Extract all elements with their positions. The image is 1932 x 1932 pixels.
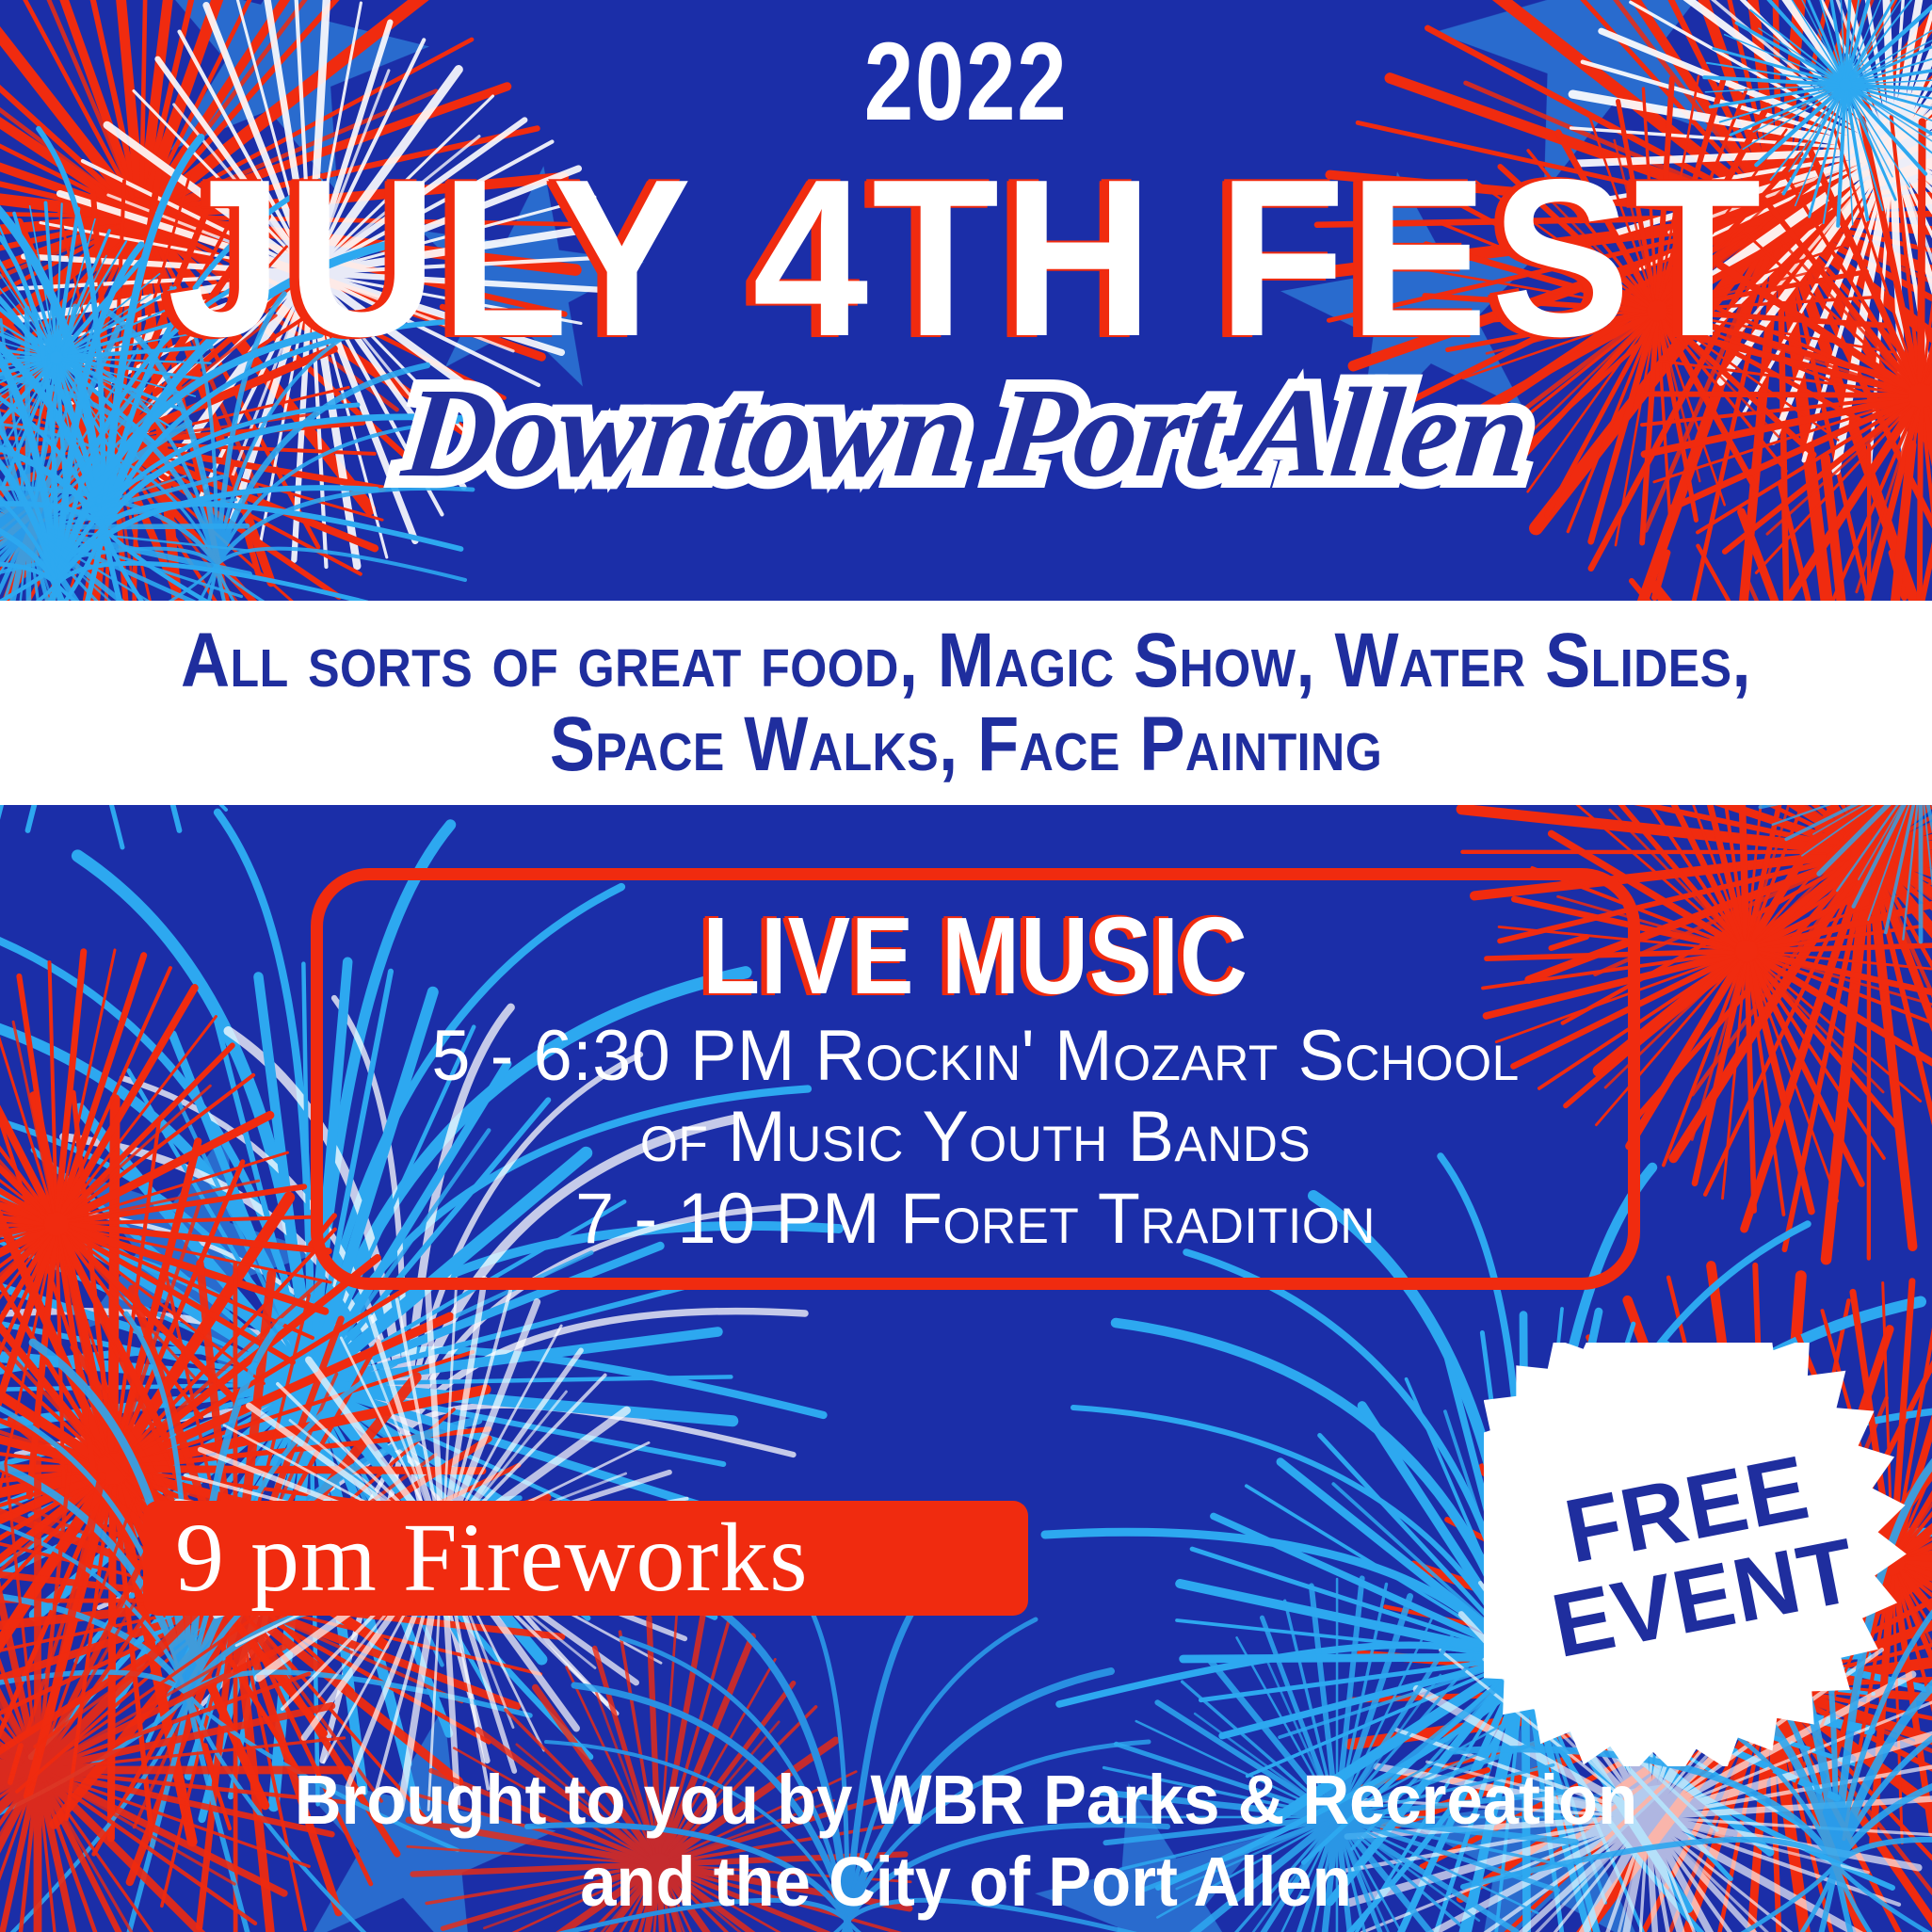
attractions-line-2: Space Walks, Face Painting [550,701,1382,787]
attractions-line-1: All sorts of great food, Magic Show, Wat… [181,618,1751,703]
footer-line-2: and the City of Port Allen [68,1841,1864,1923]
free-event-badge: FREE EVENT [1484,1343,1908,1766]
live-music-heading: LIVE MUSIC [414,880,1537,1014]
live-music-schedule: 5 - 6:30 PM Rockin' Mozart School of Mus… [343,1014,1608,1261]
attractions-banner: All sorts of great food, Magic Show, Wat… [0,601,1932,805]
july4-fest-poster: 2022 JULY 4TH FEST Downtown Port Allen A… [0,0,1932,1932]
schedule-line-2: of Music Youth Bands [343,1097,1608,1179]
fireworks-time-pill: 9 pm Fireworks [143,1501,1028,1616]
schedule-line-1: 5 - 6:30 PM Rockin' Mozart School [343,1016,1608,1098]
footer-credit: Brought to you by WBR Parks & Recreation… [0,1759,1932,1924]
schedule-line-3: 7 - 10 PM Foret Tradition [343,1179,1608,1261]
attractions-text: All sorts of great food, Magic Show, Wat… [116,620,1816,786]
live-music-box: LIVE MUSIC 5 - 6:30 PM Rockin' Mozart Sc… [311,868,1640,1290]
free-event-label: FREE EVENT [1447,1306,1932,1803]
fireworks-time-label: 9 pm Fireworks [143,1509,809,1607]
